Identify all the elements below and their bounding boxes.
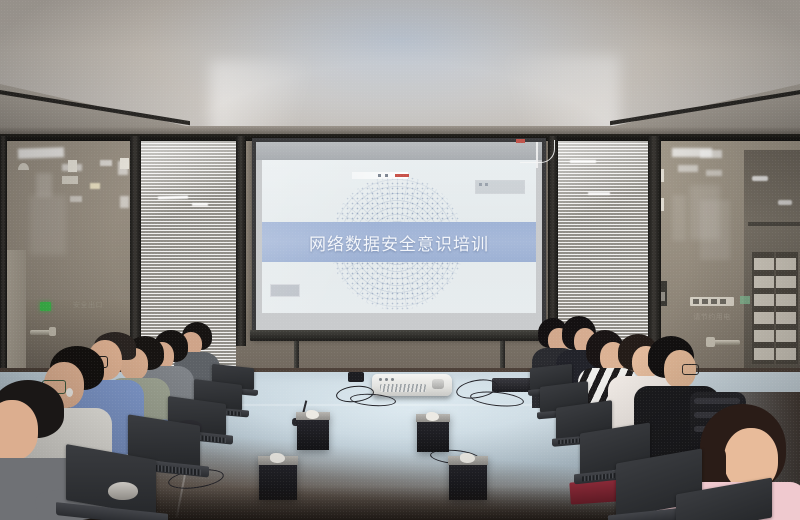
partition-mullion [130, 136, 141, 368]
far-room-beam [748, 222, 800, 226]
glass-reflection [70, 196, 82, 202]
glasses-icon [682, 364, 699, 375]
conference-room-photo: 安全出口 请节约用电 [0, 0, 800, 520]
cable-clip [516, 139, 525, 143]
glass-reflection [120, 196, 129, 208]
screen-top-strip [256, 142, 542, 160]
door-handle-right[interactable] [714, 340, 740, 345]
far-ceiling-light-icon [752, 176, 768, 181]
glass-reflection [700, 150, 722, 158]
left-wall-text: 安全出口 [70, 300, 106, 312]
projector-button[interactable] [385, 378, 388, 381]
partition-mullion [0, 136, 7, 368]
screen-weight-bar [250, 330, 548, 341]
door-lock-left[interactable] [49, 327, 56, 336]
glass-reflection [36, 173, 52, 197]
light-switch[interactable] [702, 299, 708, 304]
right-wall-text: 请节约用电 [692, 312, 732, 324]
light-switch[interactable] [720, 299, 726, 304]
partition-mullion [648, 136, 661, 368]
far-ceiling-light-icon [778, 200, 792, 205]
dome-camera-icon [18, 163, 29, 170]
wall-device [68, 160, 77, 172]
projector-button[interactable] [391, 378, 394, 381]
glass-reflection [100, 160, 112, 166]
light-switch[interactable] [693, 299, 699, 304]
av-adapter-box [348, 372, 364, 382]
light-switch[interactable] [711, 299, 717, 304]
glass-reflection [30, 195, 66, 255]
glass-reflection [672, 195, 686, 241]
glass-reflection [678, 165, 698, 172]
projector-lens-icon [432, 379, 444, 389]
blinds-glint [192, 203, 208, 206]
wall-device [120, 158, 129, 169]
chair-mesh-line [694, 398, 740, 404]
computer-mouse[interactable] [108, 482, 138, 500]
blinds-glint [588, 192, 610, 195]
glass-reflection [706, 170, 722, 176]
tissue-box [296, 412, 330, 450]
blinds-glint [570, 160, 596, 163]
wall-device [62, 176, 78, 184]
hanging-cable [536, 142, 538, 168]
exit-sign-icon [40, 302, 51, 311]
hanging-cable [520, 140, 555, 163]
green-wall-tag [740, 296, 750, 304]
shelf-divider [774, 252, 776, 364]
glass-reflection [90, 183, 100, 189]
earbud-icon [66, 388, 73, 397]
glass-reflection [700, 200, 730, 260]
partition-mullion [236, 136, 246, 346]
door-lock-right[interactable] [706, 337, 715, 347]
tissue-box [416, 414, 450, 452]
partition-mullion [548, 136, 558, 344]
projector-vent [380, 384, 426, 392]
projector-button[interactable] [379, 378, 382, 381]
glass-reflection [18, 147, 64, 159]
screen-sheen [262, 160, 536, 313]
